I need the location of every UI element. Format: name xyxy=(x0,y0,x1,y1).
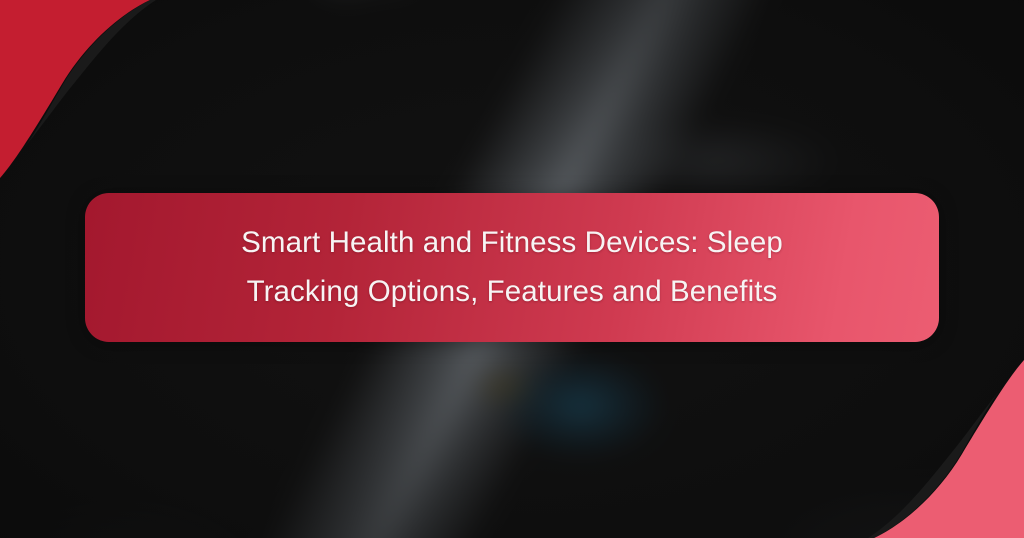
page-title: Smart Health and Fitness Devices: Sleep … xyxy=(222,219,802,315)
title-card: Smart Health and Fitness Devices: Sleep … xyxy=(85,193,939,342)
article-hero-banner: Smart Health and Fitness Devices: Sleep … xyxy=(0,0,1024,538)
